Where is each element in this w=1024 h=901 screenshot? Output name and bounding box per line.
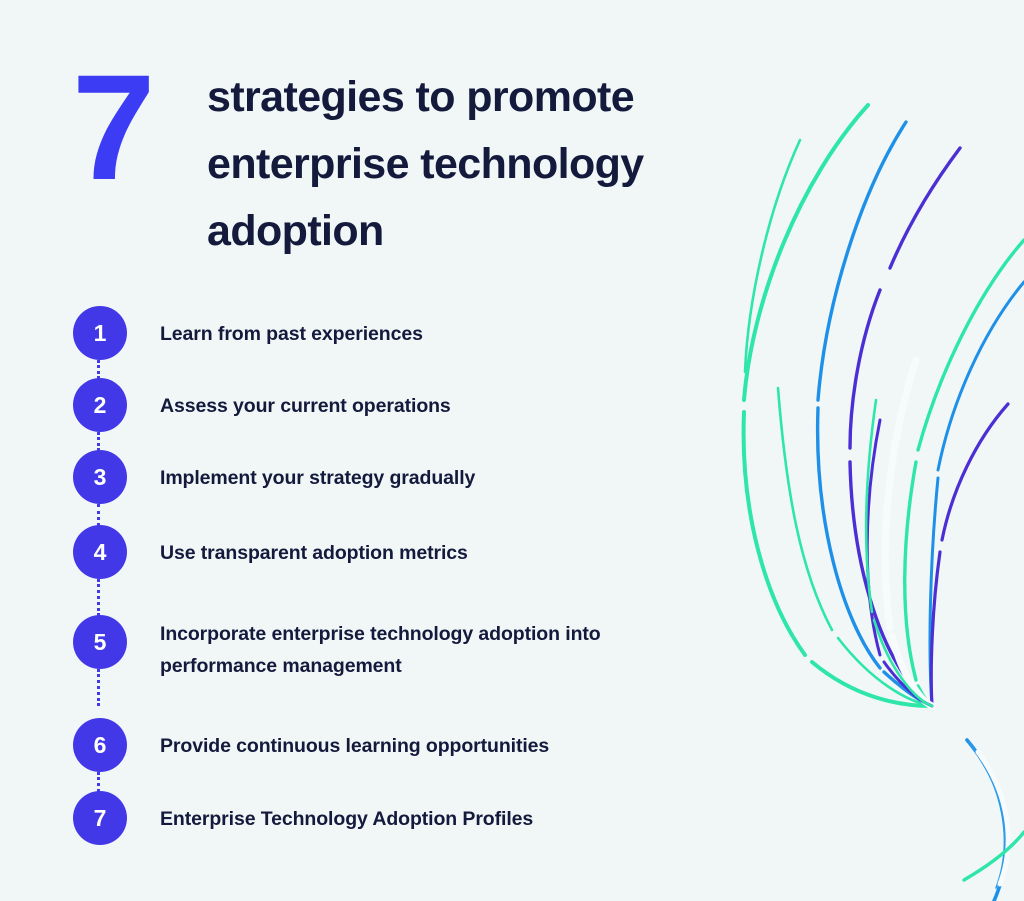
arc-corner-white [978,752,1008,884]
arc-green-outer [744,105,868,400]
steps-list: 1Learn from past experiences2Assess your… [72,306,762,845]
step-label: Use transparent adoption metrics [128,525,468,570]
step-connector-dotted-line [97,772,103,792]
arc-purple-fourth-lower [850,462,918,692]
arc-purple-seventh [942,404,1008,540]
step-label: Incorporate enterprise technology adopti… [128,615,720,682]
step-item[interactable]: 5Incorporate enterprise technology adopt… [72,615,762,682]
step-label: Provide continuous learning opportunitie… [128,718,549,763]
step-label: Implement your strategy gradually [128,450,475,495]
step-connector-dotted-line [97,360,103,379]
step-number-badge[interactable]: 3 [73,450,127,504]
step-item[interactable]: 7Enterprise Technology Adoption Profiles [72,791,762,845]
step-label: Assess your current operations [128,378,451,423]
arc-green-outer-tail [812,662,932,706]
arc-green-fifth-tail [918,686,932,706]
step-badge-column: 7 [72,791,128,845]
step-item[interactable]: 4Use transparent adoption metrics [72,525,762,579]
step-connector-dotted-line [97,504,103,526]
arc-green-second-tail [838,638,932,706]
arc-corner-blue-thin [969,742,1004,888]
arc-blue-sixth [938,282,1024,470]
step-label: Enterprise Technology Adoption Profiles [128,791,533,836]
step-number-badge[interactable]: 6 [73,718,127,772]
arc-purple-inner [867,420,880,655]
step-connector-dotted-line [97,579,103,616]
arc-green-fifth [918,240,1024,450]
arc-green-inner-tail [874,620,932,706]
arc-purple-fourth-tail [920,694,932,706]
step-badge-column: 6 [72,718,128,772]
arc-purple-inner-tail [884,662,932,706]
step-item[interactable]: 1Learn from past experiences [72,306,762,360]
step-badge-column: 4 [72,525,128,579]
step-number-badge[interactable]: 1 [73,306,127,360]
arc-corner-blue [967,740,1006,901]
step-number-badge[interactable]: 2 [73,378,127,432]
step-number-badge[interactable]: 7 [73,791,127,845]
arc-green-fifth-lower [905,462,916,680]
arc-white-inner [885,360,916,628]
step-label: Learn from past experiences [128,306,423,351]
arc-green-inner [866,400,876,612]
infographic-canvas: 7 strategies to promote enterprise techn… [0,0,1024,901]
arc-white-inner-tail [892,636,932,706]
step-connector-dotted-line [97,432,103,451]
step-badge-column: 1 [72,306,128,360]
arc-corner-green [964,832,1024,880]
arc-blue-third-lower [818,408,880,668]
big-number-7: 7 [72,58,207,198]
arc-purple-fourth [890,148,960,268]
step-connector-dotted-line [97,669,103,706]
arc-purple-fourth-mid [850,290,880,448]
step-badge-column: 2 [72,378,128,432]
step-number-badge[interactable]: 5 [73,615,127,669]
header: 7 strategies to promote enterprise techn… [72,58,732,265]
step-item[interactable]: 2Assess your current operations [72,378,762,432]
step-number-badge[interactable]: 4 [73,525,127,579]
page-title: strategies to promote enterprise technol… [207,58,727,265]
arc-blue-sixth-tail [930,478,938,706]
step-badge-column: 3 [72,450,128,504]
arc-green-second-mid [778,388,832,630]
step-badge-column: 5 [72,615,128,669]
arc-blue-third-tail [884,672,932,706]
step-item[interactable]: 3Implement your strategy gradually [72,450,762,504]
step-item[interactable]: 6Provide continuous learning opportuniti… [72,718,762,772]
arc-blue-third [818,122,906,400]
arc-purple-seventh-tail [931,552,940,706]
